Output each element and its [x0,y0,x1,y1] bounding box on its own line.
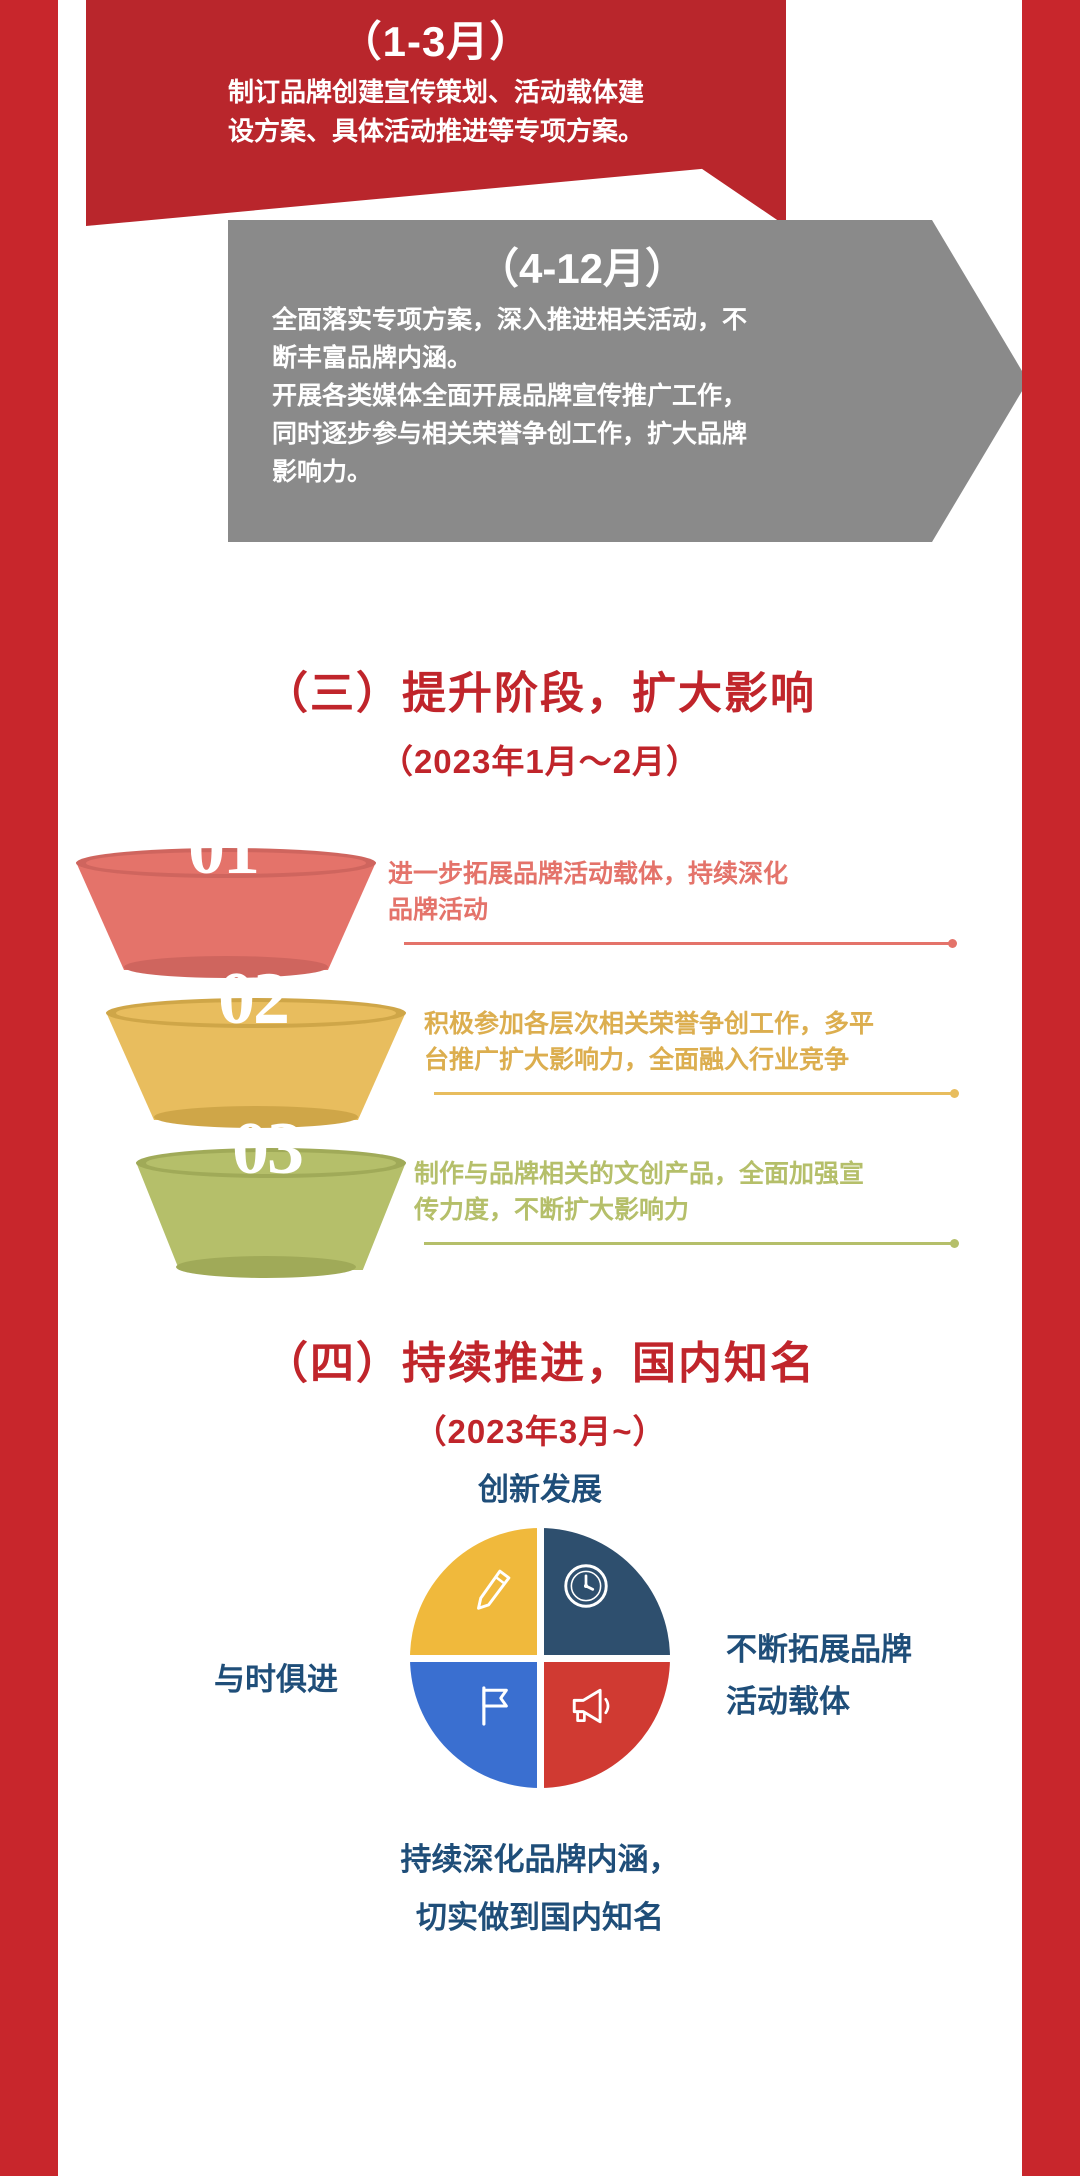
wheel-label-top: 创新发展 [58,1468,1022,1511]
wheel-label-bottom-1: 持续深化品牌内涵， [58,1838,1022,1881]
funnel-text-03-line-2: 传力度，不断扩大影响力 [414,1192,984,1228]
funnel-text-03-line-1: 制作与品牌相关的文创产品，全面加强宣 [414,1156,984,1192]
bowl-graphic-01: 01 [76,838,406,976]
funnel-text-02-line-1: 积极参加各层次相关荣誉争创工作，多平 [424,1006,984,1042]
funnel-rule-01 [404,942,952,945]
wheel-label-left: 与时俱进 [68,1658,338,1701]
gray-banner-line-1: 全面落实专项方案，深入推进相关活动，不 [272,301,908,339]
bowl-base-03 [176,1256,356,1278]
wheel-label-bottom-2: 切实做到国内知名 [58,1896,1022,1939]
section-four-title: （四）持续推进，国内知名 [58,1338,1022,1391]
funnel-item-02: 02 积极参加各层次相关荣誉争创工作，多平 台推广扩大影响力，全面融入行业竞争 [58,988,1022,1138]
funnel-item-01: 01 进一步拓展品牌活动载体，持续深化 品牌活动 [58,838,1022,988]
red-banner-line-1: 制订品牌创建宣传策划、活动载体建 [132,73,740,112]
wheel-label-right-2: 活动载体 [726,1680,1016,1723]
red-banner-line-2: 设方案、具体活动推进等专项方案。 [132,112,740,151]
gray-banner-title: （4-12月） [228,242,1022,297]
megaphone-icon [562,1678,618,1734]
gray-banner-line-4: 同时逐步参与相关荣誉争创工作，扩大品牌 [272,415,908,453]
pen-icon [464,1560,520,1616]
bowl-number-01: 01 [188,812,258,886]
funnel-text-01: 进一步拓展品牌活动载体，持续深化 品牌活动 [388,856,988,929]
timeline-banner-red: （1-3月） 制订品牌创建宣传策划、活动载体建 设方案、具体活动推进等专项方案。 [86,0,786,226]
funnel-dot-03 [950,1239,959,1248]
funnel-dot-01 [948,939,957,948]
section-three-subtitle: （2023年1月～2月） [58,735,1022,783]
gray-banner-line-2: 断丰富品牌内涵。 [272,339,908,377]
funnel-rule-02 [434,1092,954,1095]
wheel-diagram: 创新发展 与时俱进 不断拓展品牌 活动载体 持续深化品牌内涵， 切实做到国内知名 [58,1468,1022,1968]
timeline-banner-gray: （4-12月） 全面落实专项方案，深入推进相关活动，不 断丰富品牌内涵。 开展各… [228,220,1022,542]
section-four-heading: （四）持续推进，国内知名 （2023年3月~） [58,1338,1022,1453]
wheel-label-right-1: 不断拓展品牌 [726,1628,1016,1671]
clock-icon [558,1558,614,1614]
bowl-number-03: 03 [232,1112,302,1186]
funnel-text-02-line-2: 台推广扩大影响力，全面融入行业竞争 [424,1042,984,1078]
section-four-subtitle: （2023年3月~） [58,1405,1022,1453]
section-three-heading: （三）提升阶段，扩大影响 （2023年1月～2月） [58,668,1022,783]
bowl-graphic-02: 02 [106,988,436,1126]
wheel-divider-horizontal [410,1655,670,1662]
gray-banner-line-5: 影响力。 [272,453,908,491]
section-three-title: （三）提升阶段，扩大影响 [58,668,1022,721]
funnel-item-03: 03 制作与品牌相关的文创产品，全面加强宣 传力度，不断扩大影响力 [58,1138,1022,1288]
funnel-text-02: 积极参加各层次相关荣誉争创工作，多平 台推广扩大影响力，全面融入行业竞争 [424,1006,984,1079]
wheel-circle [410,1528,670,1788]
funnel-text-03: 制作与品牌相关的文创产品，全面加强宣 传力度，不断扩大影响力 [414,1156,984,1229]
gray-banner-line-3: 开展各类媒体全面开展品牌宣传推广工作， [272,377,908,415]
bowl-number-02: 02 [218,962,288,1036]
infographic-page: （1-3月） 制订品牌创建宣传策划、活动载体建 设方案、具体活动推进等专项方案。… [58,0,1022,2176]
funnel-dot-02 [950,1089,959,1098]
funnel-rule-03 [424,1242,954,1245]
flag-icon [466,1678,522,1734]
red-banner-title: （1-3月） [86,16,786,69]
funnel-text-01-line-1: 进一步拓展品牌活动载体，持续深化 [388,856,988,892]
bowl-graphic-03: 03 [136,1138,416,1276]
funnel-text-01-line-2: 品牌活动 [388,892,988,928]
